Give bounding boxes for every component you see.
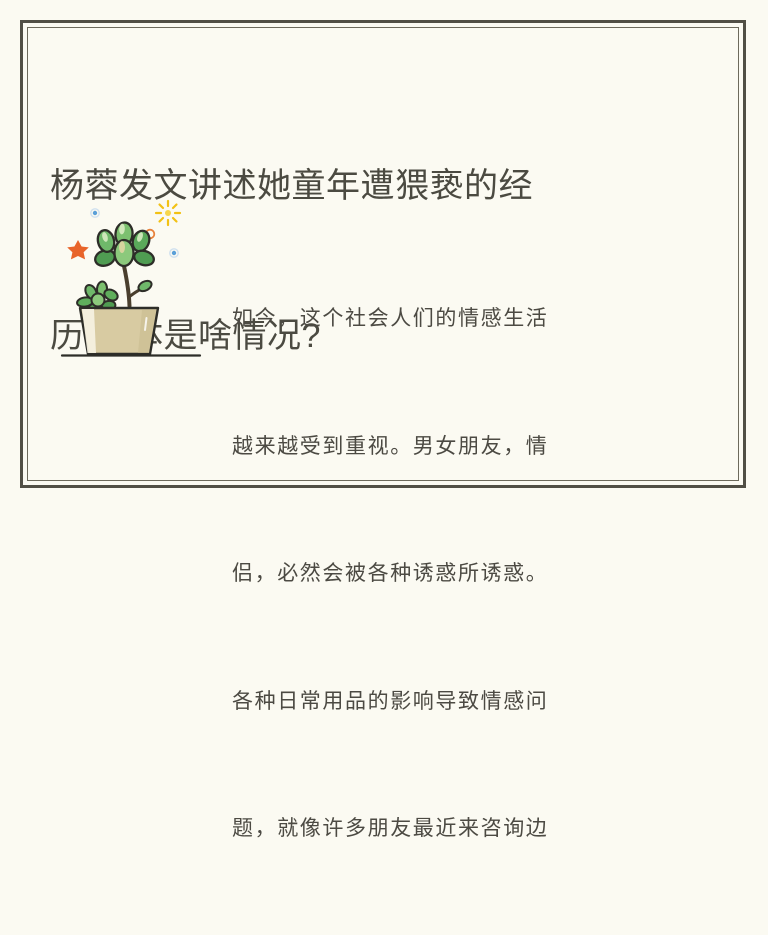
plant-pot [80,308,158,354]
article-body-line-1: 如今，这个社会人们的情感生活 [232,297,652,340]
article-poster-card: 杨蓉发文讲述她童年遭猥亵的经 历 具体是啥情况? [0,0,768,510]
orange-star-icon [67,240,89,259]
article-body-line-4: 各种日常用品的影响导致情感问 [232,680,652,723]
plant-small-leaf [137,279,154,294]
blue-dot-lower-icon [170,249,178,257]
article-body-line-2: 越来越受到重视。男女朋友，情 [232,425,652,468]
article-body-line-5: 题，就像许多朋友最近来咨询边 [232,807,652,850]
sun-burst-icon [156,201,180,225]
blue-dot-upper-icon [91,209,99,217]
article-body: 如今，这个社会人们的情感生活 越来越受到重视。男女朋友，情 侣，必然会被各种诱惑… [232,212,652,935]
potted-plant-illustration [58,196,210,364]
article-body-line-3: 侣，必然会被各种诱惑所诱惑。 [232,552,652,595]
plant-stem [124,266,130,306]
